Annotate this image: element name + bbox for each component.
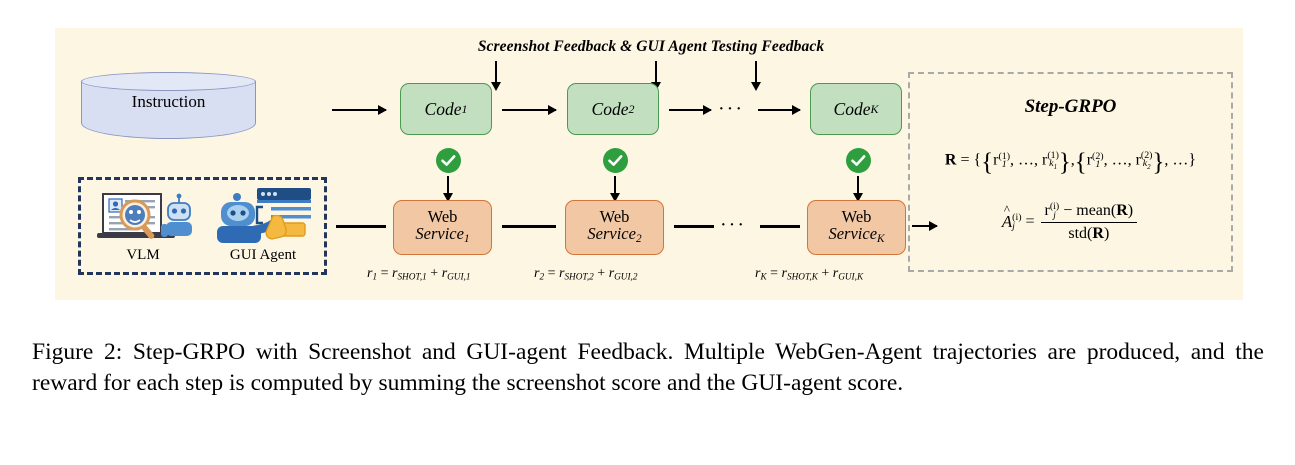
code-box-1-subscript: 1 bbox=[462, 102, 468, 117]
code-box-1-label: Code bbox=[425, 99, 462, 120]
code-box-k: CodeK bbox=[810, 83, 902, 135]
figure-caption: Figure 2: Step-GRPO with Screenshot and … bbox=[32, 337, 1264, 400]
service-box-k-bottom: ServiceK bbox=[828, 226, 884, 246]
agent-vlm: VLM bbox=[89, 184, 197, 264]
code-box-2: Code2 bbox=[567, 83, 659, 135]
step-grpo-title: Step-GRPO bbox=[910, 96, 1231, 118]
code-box-2-subscript: 2 bbox=[629, 102, 635, 117]
service1-to-service2-line bbox=[502, 225, 556, 228]
check-circle-icon-2 bbox=[603, 148, 628, 173]
code-box-k-subscript: K bbox=[871, 102, 879, 117]
instruction-cylinder: Instruction bbox=[81, 72, 256, 140]
service-box-k-subscript: K bbox=[877, 233, 884, 245]
vlm-illustration-icon bbox=[89, 184, 197, 246]
vlm-label: VLM bbox=[89, 247, 197, 264]
code1-to-service1-arrow bbox=[447, 176, 449, 194]
instruction-label: Instruction bbox=[81, 92, 256, 112]
agent-gui: GUI Agent bbox=[209, 184, 317, 264]
code-row-ellipsis: ··· bbox=[718, 99, 744, 119]
codek-to-servicek-arrow bbox=[857, 176, 859, 194]
code-box-k-label: Code bbox=[834, 99, 871, 120]
service-box-1-subscript: 1 bbox=[464, 233, 470, 245]
service-row-ellipsis: ··· bbox=[720, 215, 746, 235]
agents-dashed-box: VLM bbox=[78, 177, 327, 275]
service-box-2-bottom: Service2 bbox=[587, 226, 641, 246]
agents-to-service1-line bbox=[336, 225, 386, 228]
service-box-1-bottom: Service1 bbox=[415, 226, 469, 246]
feedback-arrow-3 bbox=[755, 61, 757, 83]
service-box-1: Web Service1 bbox=[393, 200, 492, 255]
feedback-arrow-2 bbox=[655, 61, 657, 83]
reward-formula-1: r1 = rSHOT,1 + rGUI,1 bbox=[367, 266, 470, 282]
service-box-2: Web Service2 bbox=[565, 200, 664, 255]
step-grpo-panel: Step-GRPO R = {{r(1)1, …, r(1)k1},{r(2)1… bbox=[908, 72, 1233, 272]
service-box-k: Web ServiceK bbox=[807, 200, 906, 255]
feedback-label: Screenshot Feedback & GUI Agent Testing … bbox=[441, 38, 861, 56]
ellipsis-to-codek-arrow bbox=[758, 109, 800, 111]
check-circle-icon-k bbox=[846, 148, 871, 173]
code1-to-code2-arrow bbox=[502, 109, 556, 111]
figure-panel: Screenshot Feedback & GUI Agent Testing … bbox=[55, 28, 1243, 300]
service-box-2-subscript: 2 bbox=[636, 233, 642, 245]
code-box-2-label: Code bbox=[592, 99, 629, 120]
code-box-1: Code1 bbox=[400, 83, 492, 135]
advantage-fraction: r(i)j − mean(R) std(R) bbox=[1041, 202, 1138, 243]
ellipsis-to-servicek-line bbox=[760, 225, 800, 228]
code2-to-ellipsis-arrow bbox=[669, 109, 711, 111]
reward-formula-2: r2 = rSHOT,2 + rGUI,2 bbox=[534, 266, 637, 282]
cylinder-top bbox=[81, 72, 256, 91]
service2-to-ellipsis-line bbox=[674, 225, 714, 228]
gui-agent-illustration-icon bbox=[209, 184, 317, 246]
reward-set-equation: R = {{r(1)1, …, r(1)k1},{r(2)1, …, r(2)k… bbox=[910, 149, 1231, 177]
code2-to-service2-arrow bbox=[614, 176, 616, 194]
reward-formula-k: rK = rSHOT,K + rGUI,K bbox=[755, 266, 863, 282]
feedback-arrow-1 bbox=[495, 61, 497, 83]
check-circle-icon-1 bbox=[436, 148, 461, 173]
advantage-equation: A ^ (i)j = r(i)j − mean(R) std(R) bbox=[910, 202, 1231, 243]
instruction-to-code1-arrow bbox=[332, 109, 386, 111]
gui-agent-label: GUI Agent bbox=[209, 247, 317, 264]
